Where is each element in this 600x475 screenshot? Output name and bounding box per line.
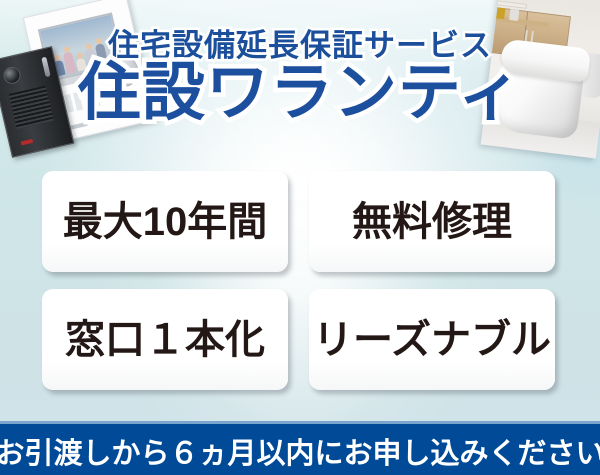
feature-card-label: 最大10年間 bbox=[63, 202, 268, 242]
toilet-bathroom-photo bbox=[481, 0, 600, 158]
cta-bar: お引渡しから６ヵ月以内にお申し込みください bbox=[0, 421, 600, 475]
door-station-speaker-grille bbox=[9, 86, 54, 130]
shelf-jar bbox=[509, 9, 519, 21]
feature-card-label: 窓口１本化 bbox=[65, 320, 265, 360]
feature-card-reasonable: リーズナブル bbox=[309, 289, 555, 390]
feature-card-single-contact: 窓口１本化 bbox=[42, 289, 288, 390]
door-station-light-strip bbox=[41, 57, 50, 78]
feature-card-label: 無料修理 bbox=[352, 202, 512, 242]
door-station-call-button bbox=[21, 139, 34, 146]
cta-text: お引渡しから６ヵ月以内にお申し込みください bbox=[0, 430, 600, 472]
warranty-promo-banner: 住宅設備延長保証サービス 住設ワランティ 最大10年間 無料修理 窓口１本化 リ… bbox=[0, 0, 600, 475]
feature-card-label: リーズナブル bbox=[313, 320, 551, 360]
door-station-camera-lens bbox=[2, 65, 22, 85]
feature-card-free-repair: 無料修理 bbox=[309, 171, 555, 272]
feature-card-grid: 最大10年間 無料修理 窓口１本化 リーズナブル bbox=[42, 171, 555, 390]
feature-card-max-10-years: 最大10年間 bbox=[42, 171, 288, 272]
shelf-jar bbox=[495, 7, 505, 19]
